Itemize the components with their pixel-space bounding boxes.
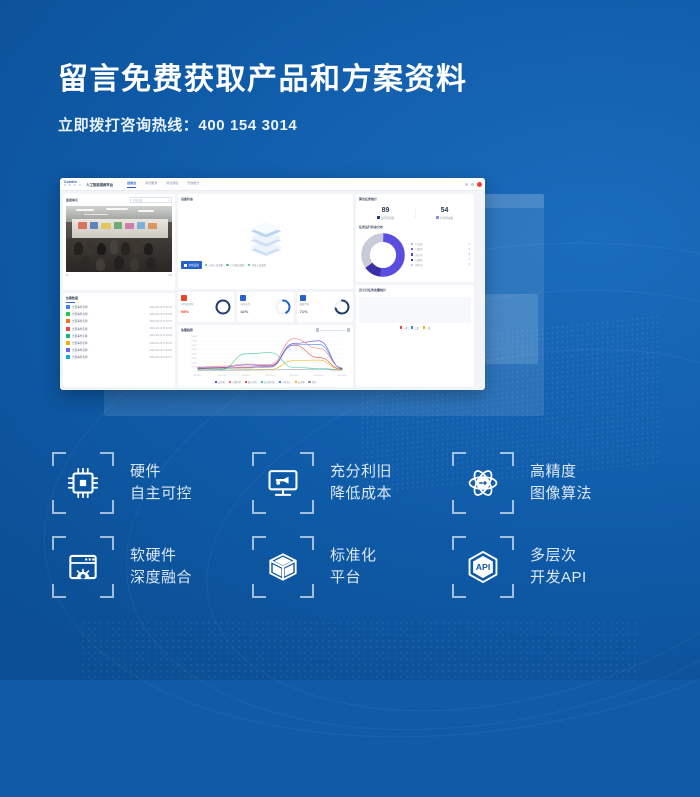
bracket-corner-icon — [100, 452, 114, 466]
gauge-card: 磁盘空间71% — [297, 292, 353, 322]
dashboard-screenshot-group: Condin 智 能 科 技 人工智能视频平台 控制台 算法服务 算法调度 开放… — [60, 178, 520, 410]
donut-legend-row: 已暂停1 — [411, 257, 470, 262]
svg-text:API: API — [476, 562, 490, 572]
gauge-ring-icon — [215, 299, 231, 315]
feature-item-window-gear: 软硬件深度融合 — [52, 536, 252, 598]
alert-row[interactable]: 告警事件名称2021-09-13 07:22:27 — [63, 318, 175, 325]
alert-label: 告警事件名称 — [72, 334, 148, 338]
gauge-icon — [300, 295, 306, 301]
chart-legend-item[interactable]: 其他 — [308, 380, 316, 384]
bracket-corner-icon — [52, 500, 66, 514]
donut-chart-wrap: 已完成2已取消4运行中8已暂停1排队中3 — [356, 230, 474, 282]
legend-label: 安全帽 — [218, 380, 225, 384]
svg-text:8,000: 8,000 — [191, 336, 197, 338]
nav-item-console[interactable]: 控制台 — [127, 181, 136, 187]
camera-select[interactable]: 全部设备 ▾ — [130, 197, 172, 203]
gauge-icon — [181, 295, 187, 301]
feature-item-monitor-camera: 充分利旧降低成本 — [252, 452, 452, 514]
task-statistics-title: 算法任务统计 — [356, 194, 474, 203]
monitor-camera-icon — [264, 464, 302, 502]
feature-text: 多层次开发API — [530, 545, 587, 589]
alert-time: 2021-09-13 07:22:20 — [150, 349, 172, 352]
alert-type-icon — [66, 312, 70, 316]
bracket-corner-icon — [52, 584, 66, 598]
feature-line-1: 标准化 — [330, 545, 377, 567]
nav-item-open-capability[interactable]: 开放能力 — [187, 181, 199, 187]
svg-text:6,000: 6,000 — [191, 345, 197, 347]
chevron-down-icon: ▾ — [168, 199, 169, 202]
feature-text: 标准化平台 — [330, 545, 377, 589]
chart-legend-item[interactable]: 烟火检测 — [245, 380, 257, 384]
kpi-marker-icon — [377, 216, 380, 219]
kpi-caption: 运行算法数 — [356, 216, 415, 220]
chart-legend-item[interactable]: 安全带检测 — [261, 380, 275, 384]
bracket-corner-icon — [252, 584, 266, 598]
alert-list-panel: 告警数量 告警事件名称2021-09-13 07:22:31告警事件名称2021… — [63, 293, 175, 387]
chart-range-slider[interactable] — [316, 328, 350, 332]
legend-color-icon — [295, 381, 297, 383]
svg-text:2021-10-6: 2021-10-6 — [217, 375, 226, 377]
svg-text:3,000: 3,000 — [191, 358, 197, 360]
dashboard-titlebar: Condin 智 能 科 技 人工智能视频平台 控制台 算法服务 算法调度 开放… — [60, 178, 485, 191]
alert-label: 告警事件名称 — [72, 348, 148, 352]
minimize-icon[interactable] — [465, 183, 468, 186]
feature-item-cube: 标准化平台 — [252, 536, 452, 598]
alert-rows-container: 告警事件名称2021-09-13 07:22:31告警事件名称2021-09-1… — [63, 304, 175, 362]
svg-text:2021-10-11: 2021-10-11 — [338, 375, 348, 377]
device-chip[interactable]: 已注册设备数 — [226, 263, 244, 267]
bracket-corner-icon — [100, 584, 114, 598]
feature-icon-frame — [252, 536, 314, 598]
cube-icon — [264, 548, 302, 586]
feature-grid: 硬件自主可控充分利旧降低成本高精度图像算法软硬件深度融合标准化平台API多层次开… — [52, 452, 652, 598]
feature-text: 硬件自主可控 — [130, 461, 192, 505]
maximize-icon[interactable] — [471, 183, 474, 186]
video-panel-title: 监控单元 — [66, 198, 78, 202]
legend-value: 4 — [469, 248, 470, 251]
layers-stack-icon — [246, 222, 286, 256]
bracket-corner-icon — [100, 500, 114, 514]
kpi-value: 89 — [356, 207, 415, 214]
legend-color-icon — [261, 381, 263, 383]
legend-label: 已暂停 — [415, 258, 466, 262]
feature-item-api-hexagon: API多层次开发API — [452, 536, 652, 598]
dashboard-body: 监控单元 全部设备 ▾ — [60, 191, 485, 390]
legend-color-icon — [245, 381, 247, 383]
bracket-corner-icon — [452, 584, 466, 598]
device-status-panel: 设备状态 在线设备 — [178, 194, 353, 289]
atom-icon — [464, 464, 502, 502]
bracket-corner-icon — [452, 500, 466, 514]
chart-legend-item[interactable]: 安全绳 — [295, 380, 305, 384]
online-device-tag[interactable]: 在线设备 — [181, 261, 202, 269]
status-dot-icon — [205, 264, 208, 267]
gauge-ring-icon — [334, 299, 350, 315]
alert-label: 告警事件名称 — [72, 305, 148, 309]
legend-color-icon — [400, 326, 402, 328]
gauge-label: 磁盘空间 — [300, 302, 310, 306]
chart-plot-area: 01,0002,0003,0004,0005,0006,0007,0008,00… — [181, 334, 350, 378]
feature-icon-frame — [252, 452, 314, 514]
legend-value: 3 — [469, 263, 470, 266]
feature-icon-frame — [52, 452, 114, 514]
gauge-card: CPU使用率98% — [178, 292, 234, 322]
chart-header: 告警趋势 — [181, 328, 350, 332]
chip-icon — [64, 464, 102, 502]
camera-select-value: 全部设备 — [133, 198, 143, 202]
feature-item-chip: 硬件自主可控 — [52, 452, 252, 514]
legend-color-icon — [411, 326, 413, 328]
dashboard-window[interactable]: Condin 智 能 科 技 人工智能视频平台 控制台 算法服务 算法调度 开放… — [60, 178, 485, 390]
alert-label: 告警事件名称 — [72, 355, 148, 359]
video-ratio-label: 4:3 — [168, 274, 172, 277]
feature-text: 高精度图像算法 — [530, 461, 592, 505]
alert-time: 2021-09-13 07:22:25 — [150, 327, 172, 330]
weekly-alert-chart — [359, 297, 471, 323]
dashboard-platform-title: 人工智能视频平台 — [86, 182, 113, 187]
dashboard-right-column: 算法任务统计 89 运行算法数 54 — [356, 194, 474, 387]
slider-handle-right[interactable] — [347, 328, 350, 332]
bracket-corner-icon — [252, 500, 266, 514]
feature-line-1: 多层次 — [530, 545, 587, 567]
gauge-value: 42% — [240, 309, 250, 314]
feature-text: 充分利旧降低成本 — [330, 461, 392, 505]
feature-line-2: 开发API — [530, 567, 587, 589]
svg-text:5,000: 5,000 — [191, 349, 197, 351]
device-icon — [184, 264, 187, 267]
alert-label: 告警事件名称 — [72, 319, 148, 323]
legend-color-icon — [229, 381, 231, 383]
svg-text:4,000: 4,000 — [191, 354, 197, 356]
device-tag-row: 在线设备 已接入设备数 已注册设备数 待接入设备数 — [181, 261, 350, 269]
svg-text:2021-10-9: 2021-10-9 — [290, 375, 299, 377]
banner-header: 留言免费获取产品和方案资料 立即拨打咨询热线：400 154 3014 — [58, 62, 468, 135]
legend-color-icon — [411, 253, 413, 255]
feature-icon-frame: API — [452, 536, 514, 598]
bracket-corner-icon — [300, 536, 314, 550]
alert-time: 2021-09-13 07:22:31 — [150, 306, 172, 309]
close-icon[interactable] — [477, 182, 482, 187]
feature-line-1: 高精度 — [530, 461, 592, 483]
svg-text:0: 0 — [195, 371, 197, 373]
bracket-corner-icon — [300, 452, 314, 466]
window-controls — [465, 182, 482, 187]
gauge-ring-icon — [275, 299, 291, 315]
legend-color-icon — [423, 326, 425, 328]
chart-legend: 安全帽口罩检测烟火检测安全带检测人员闯入安全绳其他 — [181, 380, 350, 384]
svg-text:7,000: 7,000 — [191, 340, 197, 342]
feature-line-2: 深度融合 — [130, 567, 192, 589]
chart-legend-item[interactable]: 安全帽 — [215, 380, 225, 384]
feature-text: 软硬件深度融合 — [130, 545, 192, 589]
legend-label: 一级 — [403, 326, 407, 330]
slider-track — [320, 330, 346, 331]
donut-legend-row: 排队中3 — [411, 262, 470, 267]
bracket-corner-icon — [100, 536, 114, 550]
gauge-cards-row: CPU使用率98%内存占用42%磁盘空间71% — [178, 292, 353, 322]
mini-legend-item: 一级 — [400, 326, 408, 330]
bracket-corner-icon — [300, 500, 314, 514]
donut-chart — [360, 232, 406, 278]
bracket-corner-icon — [500, 536, 514, 550]
mini-legend-item: 二级 — [411, 326, 419, 330]
bracket-corner-icon — [300, 584, 314, 598]
legend-label: 排队中 — [415, 263, 466, 267]
bracket-corner-icon — [500, 500, 514, 514]
donut-legend: 已完成2已取消4运行中8已暂停1排队中3 — [411, 242, 470, 268]
alert-panel-title: 告警数量 — [66, 296, 172, 300]
legend-label: 口罩检测 — [232, 380, 241, 384]
dashboard-nav: 控制台 算法服务 算法调度 开放能力 — [127, 181, 199, 187]
legend-value: 2 — [469, 243, 470, 246]
alert-type-icon — [66, 341, 70, 345]
alert-time: 2021-09-13 07:22:24 — [150, 334, 172, 337]
bracket-corner-icon — [500, 452, 514, 466]
video-panel-header: 监控单元 全部设备 ▾ — [63, 194, 175, 206]
api-hexagon-icon: API — [464, 548, 502, 586]
gauge-card: 内存占用42% — [237, 292, 293, 322]
video-feed[interactable] — [66, 206, 172, 272]
gauge-value: 71% — [300, 309, 310, 314]
alert-type-icon — [66, 305, 70, 309]
dashboard-logo: Condin 智 能 科 技 — [64, 181, 82, 186]
legend-value: 8 — [469, 253, 470, 256]
legend-label: 安全带检测 — [264, 380, 275, 384]
gauge-icon — [240, 295, 246, 301]
feature-line-1: 充分利旧 — [330, 461, 392, 483]
weekly-alert-panel: 近七日任务告警统计 一级二级三级 — [356, 285, 474, 388]
alert-type-icon — [66, 319, 70, 323]
svg-text:2,000: 2,000 — [191, 362, 197, 364]
svg-text:2021-10-8: 2021-10-8 — [266, 375, 275, 377]
legend-label: 运行中 — [415, 253, 466, 257]
legend-label: 已取消 — [415, 247, 466, 251]
alert-row[interactable]: 告警事件名称2021-09-13 07:22:20 — [63, 347, 175, 354]
alert-label: 告警事件名称 — [72, 341, 148, 345]
svg-text:2021-10-5: 2021-10-5 — [193, 375, 202, 377]
dashboard-center-column: 设备状态 在线设备 — [178, 194, 353, 387]
device-chip[interactable]: 待接入设备数 — [248, 263, 266, 267]
alert-type-icon — [66, 334, 70, 338]
video-panel-footer: ■ 4:3 — [63, 272, 175, 279]
dashboard-left-column: 监控单元 全部设备 ▾ — [63, 194, 175, 387]
alert-time: 2021-09-13 07:22:29 — [150, 313, 172, 316]
alert-row[interactable]: 告警事件名称2021-09-13 07:22:24 — [63, 332, 175, 339]
mini-legend-item: 三级 — [423, 326, 431, 330]
trend-chart-panel: 告警趋势 01,0002,0003,0004,0005,0006,0007,00… — [178, 325, 353, 387]
feature-icon-frame — [52, 536, 114, 598]
hotline-text: 立即拨打咨询热线：400 154 3014 — [58, 114, 468, 135]
legend-value: 1 — [469, 258, 470, 261]
alert-panel-header: 告警数量 — [63, 293, 175, 304]
alert-time: 2021-09-13 07:22:22 — [150, 342, 172, 345]
alert-type-icon — [66, 327, 70, 331]
nav-item-algorithm-service[interactable]: 算法服务 — [145, 181, 157, 187]
nav-item-algorithm-schedule[interactable]: 算法调度 — [166, 181, 178, 187]
gauge-label: 内存占用 — [240, 302, 250, 306]
alert-type-icon — [66, 348, 70, 352]
status-dot-icon — [248, 264, 251, 267]
chart-legend-item[interactable]: 口罩检测 — [229, 380, 241, 384]
legend-color-icon — [411, 248, 413, 250]
feature-line-2: 降低成本 — [330, 483, 392, 505]
window-gear-icon — [64, 548, 102, 586]
svg-text:2021-10-7: 2021-10-7 — [242, 375, 251, 377]
legend-color-icon — [411, 243, 413, 245]
kpi-row: 89 运行算法数 54 异常算法数 — [356, 203, 474, 225]
legend-label: 人员闯入 — [282, 380, 291, 384]
task-statistics-panel: 算法任务统计 89 运行算法数 54 — [356, 194, 474, 282]
legend-color-icon — [215, 381, 217, 383]
alert-row[interactable]: 告警事件名称2021-09-13 07:22:22 — [63, 339, 175, 346]
donut-legend-row: 已取消4 — [411, 247, 470, 252]
alert-row[interactable]: 告警事件名称2021-09-13 07:22:17 — [63, 354, 175, 361]
legend-color-icon — [308, 381, 310, 383]
alert-label: 告警事件名称 — [72, 327, 148, 331]
feature-line-1: 硬件 — [130, 461, 192, 483]
chart-title: 告警趋势 — [181, 328, 193, 332]
feature-line-2: 自主可控 — [130, 483, 192, 505]
feature-line-2: 平台 — [330, 567, 377, 589]
legend-label: 安全绳 — [298, 380, 305, 384]
legend-label: 二级 — [414, 326, 418, 330]
alert-type-icon — [66, 355, 70, 359]
legend-label: 已完成 — [415, 242, 466, 246]
alert-row[interactable]: 告警事件名称2021-09-13 07:22:29 — [63, 311, 175, 318]
page-title: 留言免费获取产品和方案资料 — [58, 62, 468, 98]
play-icon[interactable]: ■ — [66, 274, 68, 277]
status-dot-icon — [226, 264, 229, 267]
kpi-running-tasks: 89 运行算法数 — [356, 207, 415, 220]
alert-time: 2021-09-13 07:22:17 — [150, 356, 172, 359]
svg-text:2021-10-10: 2021-10-10 — [313, 375, 323, 377]
donut-legend-row: 已完成2 — [411, 242, 470, 247]
alert-row[interactable]: 告警事件名称2021-09-13 07:22:25 — [63, 325, 175, 332]
svg-text:1,000: 1,000 — [191, 367, 197, 369]
kpi-value: 54 — [415, 207, 474, 214]
gauge-value: 98% — [181, 309, 193, 314]
alert-label: 告警事件名称 — [72, 312, 148, 316]
feature-icon-frame — [452, 452, 514, 514]
slider-handle-left[interactable] — [316, 328, 319, 332]
online-device-label: 在线设备 — [189, 263, 199, 267]
legend-label: 三级 — [426, 326, 430, 330]
alert-row[interactable]: 告警事件名称2021-09-13 07:22:31 — [63, 304, 175, 311]
kpi-caption: 异常算法数 — [415, 216, 474, 220]
legend-color-icon — [279, 381, 281, 383]
alert-time: 2021-09-13 07:22:27 — [150, 320, 172, 323]
background-dot-pattern — [80, 620, 640, 680]
weekly-alert-legend: 一级二级三级 — [356, 326, 474, 330]
feature-line-2: 图像算法 — [530, 483, 592, 505]
device-chip[interactable]: 已接入设备数 — [205, 263, 223, 267]
feature-item-atom: 高精度图像算法 — [452, 452, 652, 514]
device-status-title: 设备状态 — [178, 194, 353, 203]
alert-title-underline — [66, 302, 75, 303]
legend-label: 其他 — [312, 380, 316, 384]
donut-legend-row: 运行中8 — [411, 252, 470, 257]
gauge-label: CPU使用率 — [181, 302, 193, 306]
kpi-marker-icon — [436, 216, 439, 219]
feature-line-1: 软硬件 — [130, 545, 192, 567]
kpi-abnormal-tasks: 54 异常算法数 — [415, 207, 474, 220]
video-monitor-panel: 监控单元 全部设备 ▾ — [63, 194, 175, 290]
legend-label: 烟火检测 — [248, 380, 257, 384]
chart-legend-item[interactable]: 人员闯入 — [279, 380, 291, 384]
bracket-corner-icon — [500, 584, 514, 598]
legend-color-icon — [411, 264, 413, 266]
weekly-alert-title: 近七日任务告警统计 — [356, 285, 474, 294]
legend-color-icon — [411, 259, 413, 261]
